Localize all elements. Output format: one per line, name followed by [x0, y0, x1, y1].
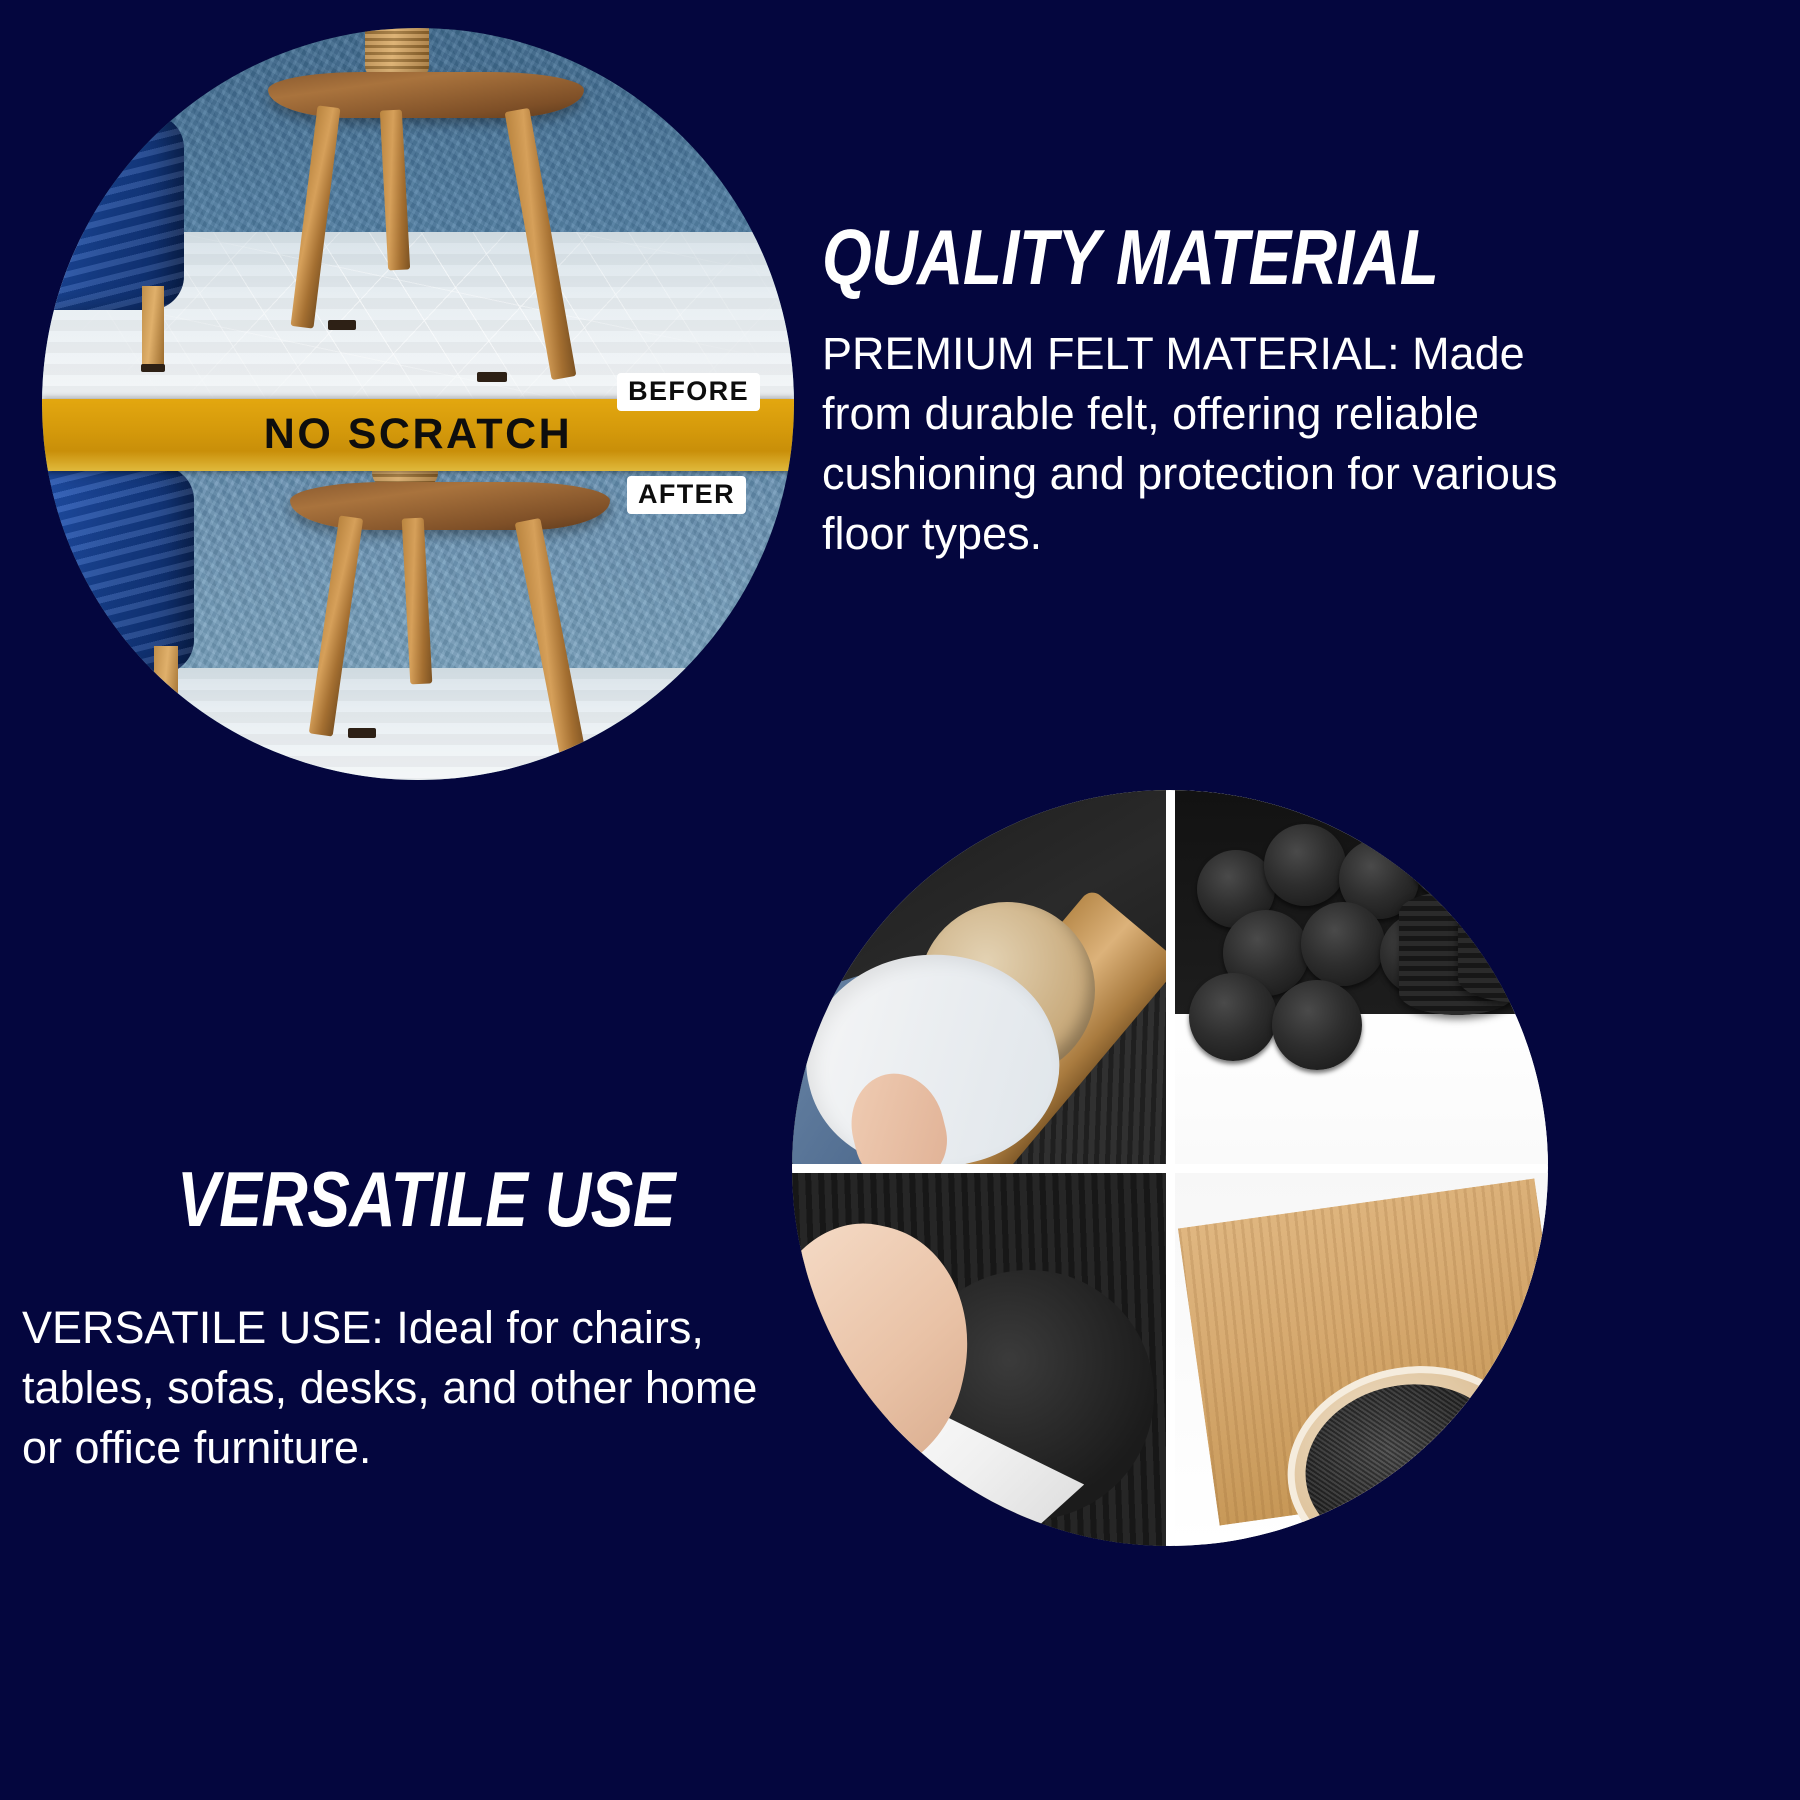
before-label: BEFORE — [617, 373, 760, 411]
sofa — [42, 466, 194, 674]
table-leg-right-foot — [486, 778, 516, 780]
sofa-leg — [142, 286, 164, 368]
quality-material-feature: QUALITY MATERIAL PREMIUM FELT MATERIAL: … — [822, 218, 1782, 563]
sofa — [42, 114, 184, 310]
product-quadrant-grid — [792, 790, 1548, 1546]
quality-material-body: PREMIUM FELT MATERIAL: Made from durable… — [822, 324, 1562, 563]
versatile-use-body: VERSATILE USE: Ideal for chairs, tables,… — [22, 1298, 782, 1478]
sofa-leg — [154, 646, 178, 730]
versatile-use-heading: VERSATILE USE — [177, 1160, 698, 1238]
table-leg-left-foot — [348, 728, 376, 738]
before-after-image: NO SCRATCH BEFORE AFTER — [42, 28, 794, 780]
quadrant-applying-pad — [792, 790, 1166, 1164]
felt-pad — [1301, 902, 1385, 986]
quadrant-peel-adhesive — [792, 1173, 1166, 1547]
table-top — [268, 72, 584, 118]
before-scene — [42, 28, 794, 406]
felt-pad-stack — [1458, 868, 1548, 1002]
quality-material-heading: QUALITY MATERIAL — [822, 218, 1609, 296]
felt-pad — [1264, 824, 1346, 906]
vase — [365, 28, 429, 78]
quadrant-pad-on-leg — [1175, 1173, 1549, 1547]
table-leg-right-foot — [477, 372, 507, 382]
quadrant-felt-pad-stack — [1175, 790, 1549, 1164]
felt-pad — [1189, 973, 1277, 1061]
after-label: AFTER — [627, 476, 746, 514]
table-leg-left-foot — [328, 320, 356, 330]
felt-pad — [1272, 980, 1362, 1070]
no-scratch-label: NO SCRATCH — [264, 410, 572, 459]
thumb — [840, 1064, 956, 1163]
sofa-leg-foot — [141, 364, 165, 372]
versatile-use-feature: VERSATILE USE VERSATILE USE: Ideal for c… — [22, 1160, 812, 1478]
product-usage-image — [792, 790, 1548, 1546]
